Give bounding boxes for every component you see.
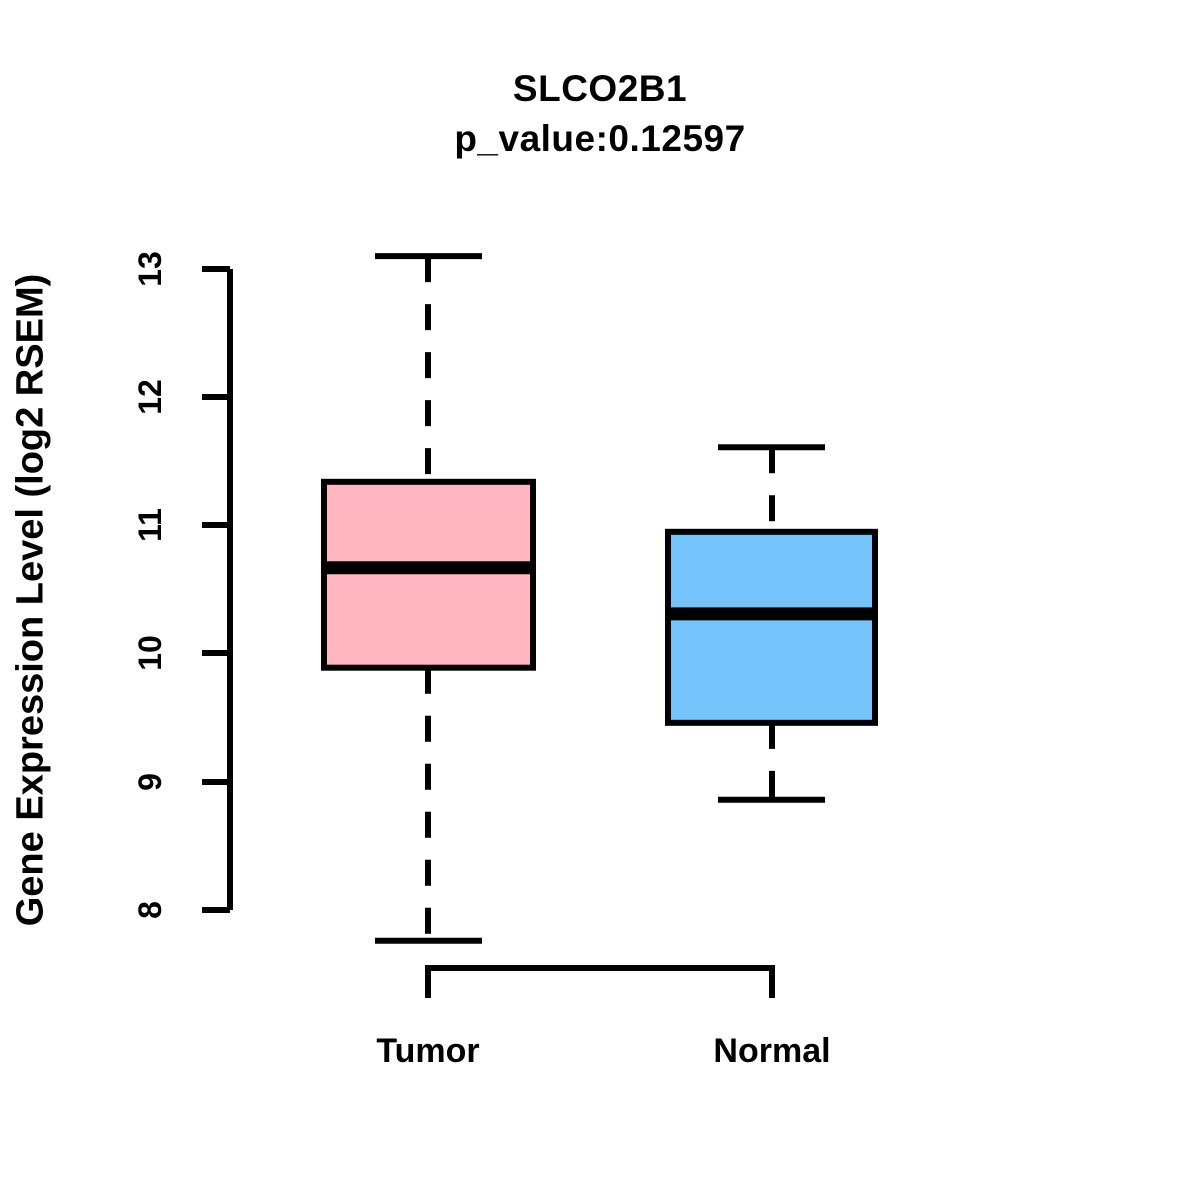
box-normal — [665, 447, 878, 800]
tumor-box-iqr — [324, 482, 533, 668]
y-axis — [202, 269, 230, 910]
plot-area — [0, 0, 1200, 1200]
bracket-path — [428, 968, 772, 998]
comparison-bracket — [428, 968, 772, 998]
box-tumor — [321, 256, 536, 941]
boxplot-figure: SLCO2B1 p_value:0.12597 Gene Expression … — [0, 0, 1200, 1200]
normal-box-iqr — [668, 532, 875, 723]
